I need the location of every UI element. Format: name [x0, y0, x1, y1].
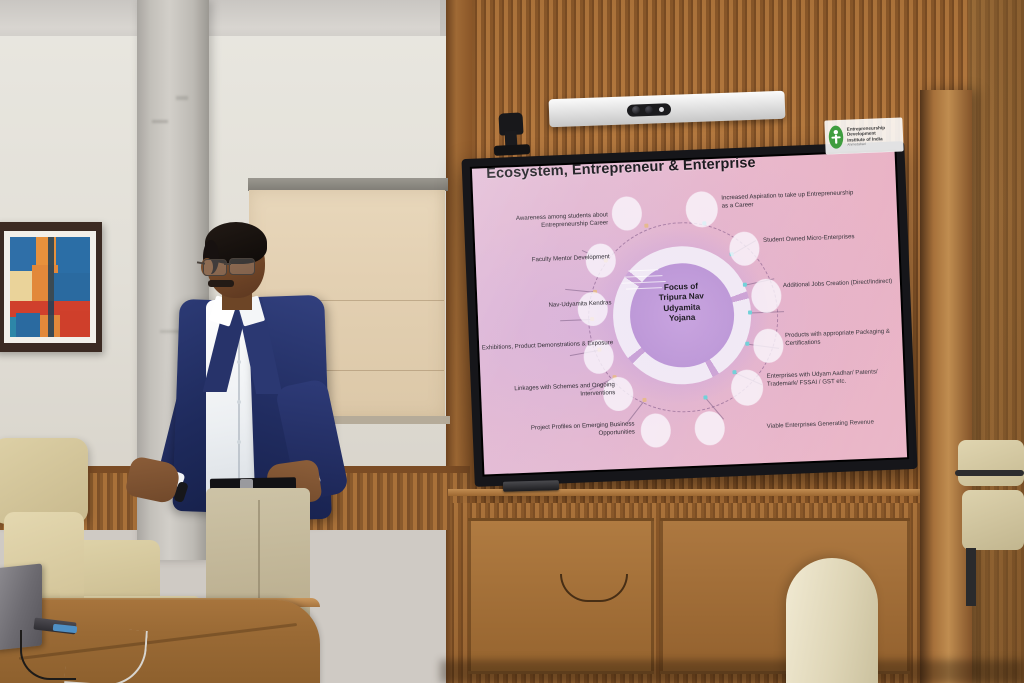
connector-dot	[745, 342, 749, 346]
wood-panel-far-right	[968, 0, 1024, 683]
radial-diagram: Focus of Tripura Nav Udyamita Yojana	[472, 151, 907, 474]
connector-dot	[743, 283, 747, 287]
floor-shadow	[440, 660, 1024, 683]
node-bubble	[694, 411, 725, 446]
diagram-label-right-6: Viable Enterprises Generating Revenue	[767, 418, 889, 431]
chair-armrest	[955, 470, 1024, 476]
column-mark	[176, 96, 188, 100]
edii-logo-text: Entrepreneurship Development Institute o…	[847, 125, 886, 147]
diagram-label-right-4: Products with appropriate Packaging & Ce…	[785, 327, 904, 347]
connector-dot	[703, 395, 707, 399]
edii-line-4: Ahmedabad	[847, 142, 885, 148]
connector-dot	[644, 224, 648, 228]
shirt-button	[237, 440, 241, 444]
diagram-label-right-2: Student Owned Micro-Enterprises	[763, 232, 887, 245]
eyeglasses-bridge	[224, 263, 231, 265]
shirt-button	[237, 400, 241, 404]
abstract-painting	[10, 237, 90, 337]
chair-leg	[966, 548, 976, 606]
status-led-icon	[659, 107, 664, 112]
diagram-label-right-5: Enterprises with Udyam Aadhar/ Patents/ …	[767, 368, 896, 388]
connector-dot	[748, 310, 752, 314]
edii-logo: Entrepreneurship Development Institute o…	[824, 117, 903, 154]
eyeglasses-lens-right	[229, 258, 255, 275]
diagram-label-left-1: Awareness among students about Entrepren…	[488, 211, 609, 231]
diagram-label-right-3: Additional Jobs Creation (Direct/Indirec…	[783, 277, 899, 289]
node-bubble	[640, 413, 671, 448]
column-mark	[152, 120, 168, 123]
hub-label: Focus of Tripura Nav Udyamita Yojana	[629, 280, 735, 326]
diagram-label-left-6: Project Profiles on Emerging Business Op…	[510, 420, 635, 440]
ptz-camera-base	[494, 144, 530, 156]
chair-back-rear-right	[958, 440, 1024, 486]
node-bubble	[730, 369, 763, 406]
presenter-moustache	[208, 280, 234, 287]
diagram-label-right-1: Increased Aspiration to take up Entrepre…	[721, 189, 858, 210]
diagram-label-left-5: Linkages with Schemes and Ongoing Interv…	[489, 381, 616, 401]
eyeglasses-lens-left	[203, 259, 227, 276]
node-bubble	[611, 196, 642, 231]
cabinet-panel	[468, 518, 654, 674]
edii-logo-mark	[827, 124, 844, 151]
chair-foreground-right	[786, 558, 878, 683]
chair-seat-rear-right	[962, 490, 1024, 550]
node-bubble	[685, 191, 718, 228]
presentation-room-photo: Focus of Tripura Nav Udyamita Yojana	[0, 0, 1024, 683]
wood-post-right	[920, 90, 972, 683]
connector-dot	[642, 398, 646, 402]
tv-remote-control[interactable]	[503, 480, 559, 492]
node-bubble	[753, 328, 784, 363]
shirt-button	[237, 360, 241, 364]
